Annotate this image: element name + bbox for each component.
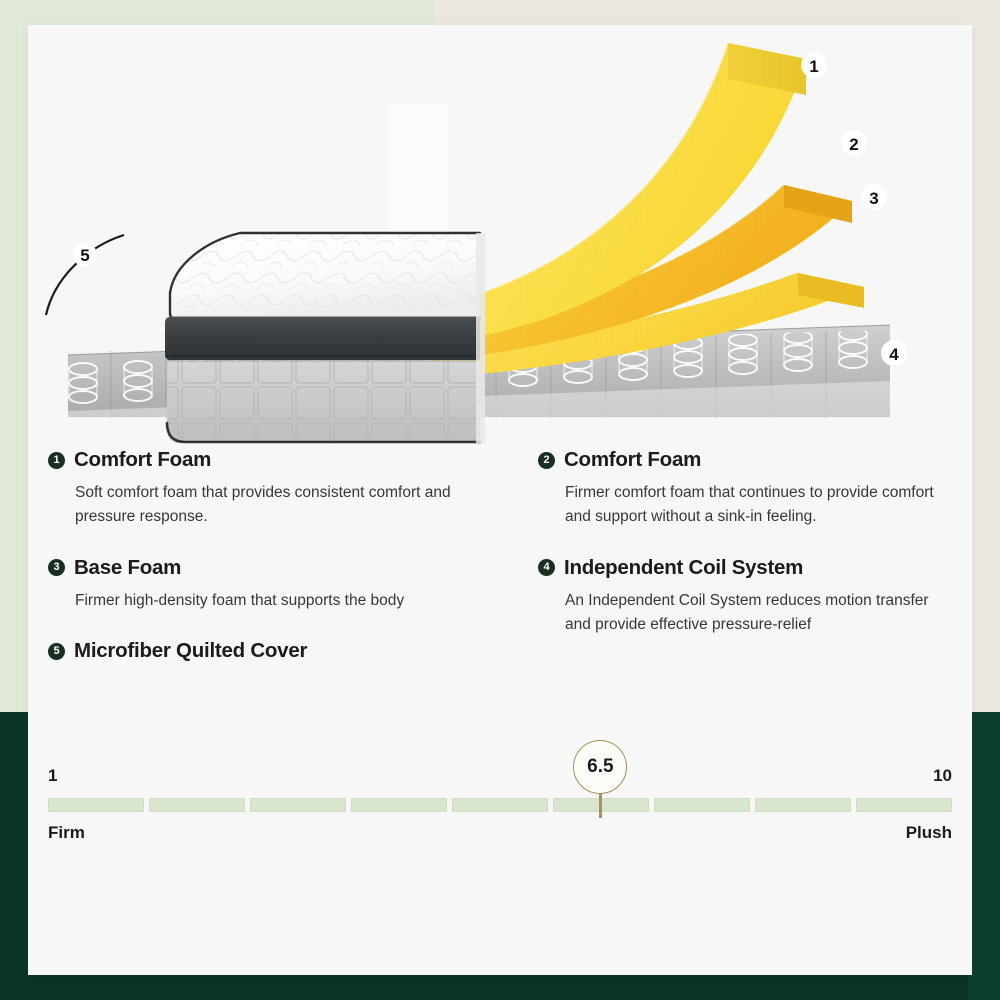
feature-badge-2: 2 [538,452,555,469]
feature-title-5: Microfiber Quilted Cover [74,639,307,663]
firmness-segment [654,798,750,812]
feature-list: 1 Comfort Foam Soft comfort foam that pr… [48,448,958,689]
firmness-segment [856,798,952,812]
feature-item-comfort-foam-2: 2 Comfort Foam Firmer comfort foam that … [538,448,958,530]
feature-item-comfort-foam-1: 1 Comfort Foam Soft comfort foam that pr… [48,448,538,530]
feature-title-4: Independent Coil System [564,556,803,580]
feature-title-3: Base Foam [74,556,181,580]
firmness-scale-endpoints: 1 10 [48,760,952,786]
feature-heading: 4 Independent Coil System [538,556,958,580]
feature-heading: 5 Microfiber Quilted Cover [48,639,538,663]
firmness-segment [250,798,346,812]
callout-number-3: 3 [869,189,878,208]
feature-badge-1: 1 [48,452,65,469]
firmness-min-value: 1 [48,766,57,786]
firmness-segment [149,798,245,812]
product-info-graphic: 5 1 2 3 4 1 Comfort Foam Soft comfort fo… [0,0,1000,1000]
callout-number-5: 5 [80,246,89,265]
firmness-marker-value: 6.5 [573,740,627,794]
background-accent-stripe [968,712,1000,1000]
feature-title-1: Comfort Foam [74,448,211,472]
feature-heading: 2 Comfort Foam [538,448,958,472]
callout-number-2: 2 [849,135,858,154]
feature-item-base-foam: 3 Base Foam Firmer high-density foam tha… [48,556,538,613]
firmness-scale: 1 10 6.5 Firm Plush [48,760,952,849]
feature-column-left: 1 Comfort Foam Soft comfort foam that pr… [48,448,538,689]
firmness-segment [48,798,144,812]
mattress-body-graphic [165,233,485,443]
firmness-max-value: 10 [933,766,952,786]
feature-description-4: An Independent Coil System reduces motio… [565,589,958,638]
callout-number-4: 4 [889,345,899,364]
feature-heading: 3 Base Foam [48,556,538,580]
feature-badge-5: 5 [48,643,65,660]
firmness-label-firm: Firm [48,823,85,843]
firmness-scale-track[interactable]: 6.5 [48,798,952,812]
feature-badge-4: 4 [538,559,555,576]
firmness-segment [452,798,548,812]
firmness-scale-labels: Firm Plush [48,823,952,849]
firmness-segment [351,798,447,812]
feature-heading: 1 Comfort Foam [48,448,538,472]
feature-column-right: 2 Comfort Foam Firmer comfort foam that … [538,448,958,689]
firmness-marker-stem [599,794,602,818]
firmness-marker[interactable]: 6.5 [572,740,628,818]
feature-item-microfiber-quilted-cover: 5 Microfiber Quilted Cover [48,639,538,663]
feature-description-2: Firmer comfort foam that continues to pr… [565,481,958,530]
firmness-segment [755,798,851,812]
feature-item-independent-coil-system: 4 Independent Coil System An Independent… [538,556,958,638]
feature-badge-3: 3 [48,559,65,576]
feature-description-3: Firmer high-density foam that supports t… [75,589,475,613]
callout-number-1: 1 [809,57,818,76]
mattress-cutaway-illustration: 5 1 2 3 4 [28,25,972,445]
feature-title-2: Comfort Foam [564,448,701,472]
feature-description-1: Soft comfort foam that provides consiste… [75,481,475,530]
firmness-label-plush: Plush [906,823,952,843]
